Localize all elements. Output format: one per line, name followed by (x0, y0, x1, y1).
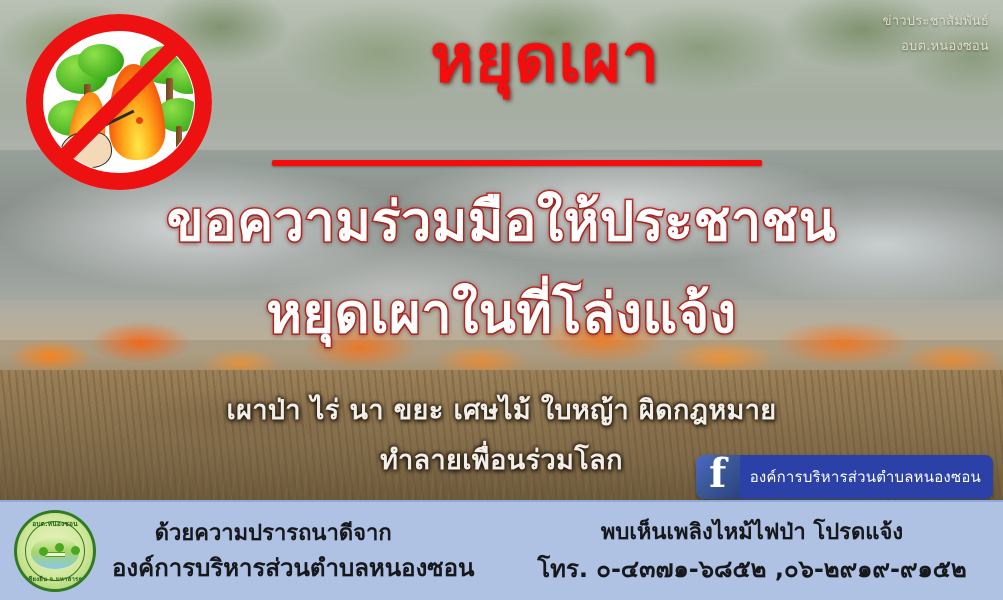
report-fire-label: พบเห็นเพลิงไหม้ไฟป่า โปรดแจ้ง (501, 516, 1003, 551)
sub-line-1: เผาป่า ไร่ นา ขยะ เศษไม้ ใบหญ้า ผิดกฎหมา… (0, 388, 1003, 431)
facebook-badge[interactable]: องค์การบริหารส่วนตำบลหนองซอน (696, 455, 993, 499)
headline-divider (272, 160, 762, 166)
org-short-label: อบต.หนองซอน (883, 35, 989, 60)
seal-tree-icon (71, 546, 80, 555)
no-burning-icon (26, 14, 212, 190)
page-title: หยุดเผา (330, 24, 760, 93)
seal-bridge (45, 552, 65, 557)
footer-bar: อบต.หนองซอน อ.เชียงยืน จ.มหาสารคาม ด้วยค… (0, 500, 1003, 600)
footer-left-text: ด้วยความปรารถนาดีจาก องค์การบริหารส่วนตำ… (112, 517, 474, 586)
municipal-seal-icon: อบต.หนองซอน อ.เชียงยืน จ.มหาสารคาม (14, 510, 96, 592)
footer-left-line-1: ด้วยความปรารถนาดีจาก (112, 517, 474, 550)
fire-prevention-poster: ข่าวประชาสัมพันธ์ อบต.หนองซอน หยุดเผา ขอ… (0, 0, 1003, 600)
seal-tree-icon (55, 543, 64, 552)
seal-text-top: อบต.หนองซอน (17, 519, 93, 529)
category-label: ข่าวประชาสัมพันธ์ (883, 10, 989, 35)
facebook-icon[interactable] (696, 455, 740, 499)
footer-left-line-2: องค์การบริหารส่วนตำบลหนองซอน (112, 550, 474, 586)
facebook-page-name[interactable]: องค์การบริหารส่วนตำบลหนองซอน (740, 455, 993, 499)
footer-right: พบเห็นเพลิงไหม้ไฟป่า โปรดแจ้ง โทร. ๐-๔๓๗… (501, 516, 1003, 587)
footer-left: อบต.หนองซอน อ.เชียงยืน จ.มหาสารคาม ด้วยค… (0, 510, 501, 592)
seal-text-bottom: อ.เชียงยืน จ.มหาสารคาม (17, 574, 93, 584)
appeal-line-1: ขอความร่วมมือให้ประชาชน (0, 192, 1003, 251)
seal-tree-icon (39, 547, 48, 556)
seal-scene (31, 537, 79, 569)
header-corner-text: ข่าวประชาสัมพันธ์ อบต.หนองซอน (883, 10, 989, 59)
phone-number: โทร. ๐-๔๓๗๑-๖๘๕๒ ,๐๖-๒๙๑๙-๙๑๕๒ (501, 551, 1003, 587)
appeal-line-2: หยุดเผาในที่โล่งแจ้ง (0, 284, 1003, 343)
